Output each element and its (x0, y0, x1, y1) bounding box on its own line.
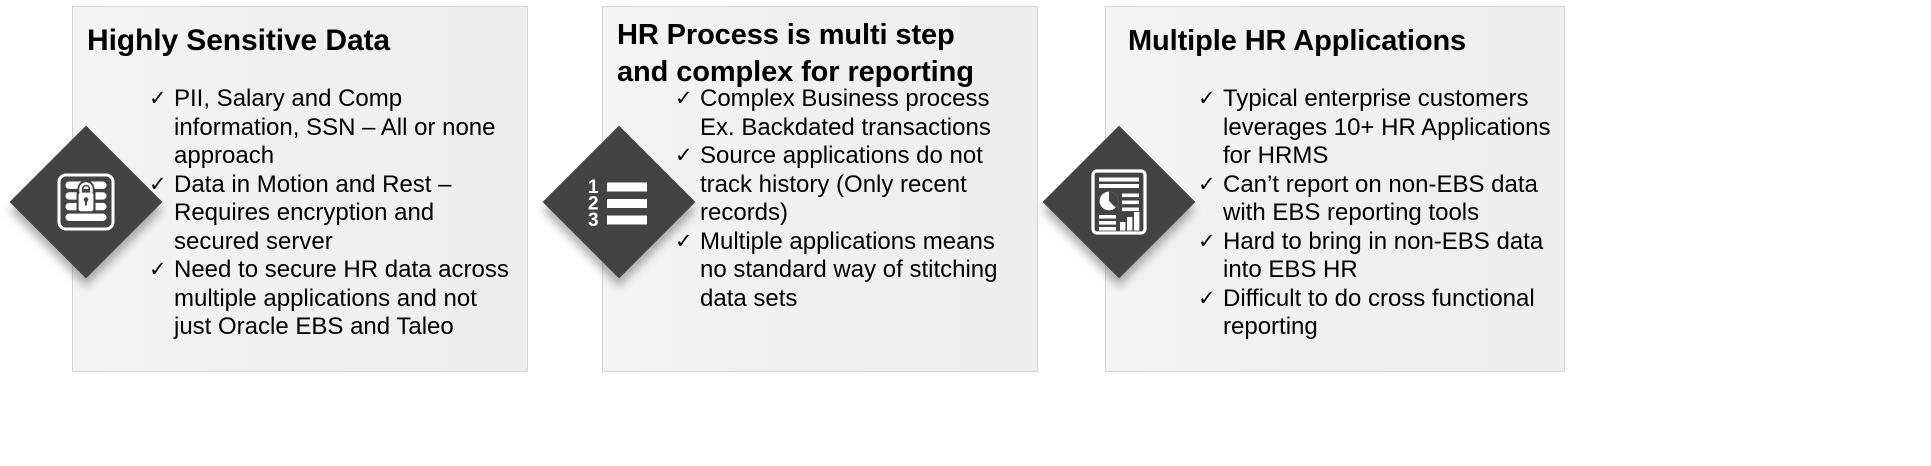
diamond-badge-1 (10, 126, 162, 278)
numbered-list-icon: 1 2 3 (543, 126, 695, 278)
list-item-label: Difficult to do cross functional reporti… (1223, 285, 1535, 341)
list-item-label: Data in Motion and Rest – Requires encry… (174, 171, 452, 255)
list-item-label: PII, Salary and Comp information, SSN – … (174, 85, 496, 169)
list-item-label: Complex Business process Ex. Backdated t… (700, 85, 991, 141)
list-item-label: Multiple applications means no standard … (700, 228, 998, 312)
list-item: ✓ Data in Motion and Rest – Requires enc… (149, 171, 519, 257)
list-item: ✓ Difficult to do cross functional repor… (1198, 285, 1556, 342)
list-item: ✓ Typical enterprise customers leverages… (1198, 85, 1556, 171)
list-item: ✓ Need to secure HR data across multiple… (149, 256, 519, 342)
list-item: ✓ Multiple applications means no standar… (675, 228, 1023, 314)
check-icon: ✓ (675, 85, 693, 114)
report-dashboard-icon (1043, 126, 1195, 278)
bullet-list: ✓ Typical enterprise customers leverages… (1198, 85, 1556, 342)
list-item-label: Can’t report on non-EBS data with EBS re… (1223, 171, 1538, 227)
bullet-list: ✓ Complex Business process Ex. Backdated… (675, 85, 1023, 313)
list-item-label: Hard to bring in non-EBS data into EBS H… (1223, 228, 1543, 284)
server-lock-icon (10, 126, 162, 278)
list-item: ✓ Source applications do not track histo… (675, 142, 1023, 228)
diamond-badge-3 (1043, 126, 1195, 278)
check-icon: ✓ (1198, 228, 1216, 257)
slide-canvas: Highly Sensitive Data ✓ PII, Salary and … (0, 0, 1931, 466)
list-item: ✓ PII, Salary and Comp information, SSN … (149, 85, 519, 171)
list-item-label: Typical enterprise customers leverages 1… (1223, 85, 1551, 169)
list-item: ✓ Complex Business process Ex. Backdated… (675, 85, 1023, 142)
list-item-label: Source applications do not track history… (700, 142, 983, 226)
bullet-list: ✓ PII, Salary and Comp information, SSN … (149, 85, 519, 342)
diamond-badge-2: 1 2 3 (543, 126, 695, 278)
check-icon: ✓ (1198, 85, 1216, 114)
list-item-label: Need to secure HR data across multiple a… (174, 256, 509, 340)
list-item: ✓ Can’t report on non-EBS data with EBS … (1198, 171, 1556, 228)
check-icon: ✓ (1198, 285, 1216, 314)
check-icon: ✓ (149, 85, 167, 114)
numbered-list-digit-3: 3 (588, 210, 599, 227)
panel-title: HR Process is multi step and complex for… (617, 17, 974, 91)
check-icon: ✓ (1198, 171, 1216, 200)
panel-title: Multiple HR Applications (1128, 23, 1466, 59)
panel-title: Highly Sensitive Data (87, 23, 390, 59)
list-item: ✓ Hard to bring in non-EBS data into EBS… (1198, 228, 1556, 285)
